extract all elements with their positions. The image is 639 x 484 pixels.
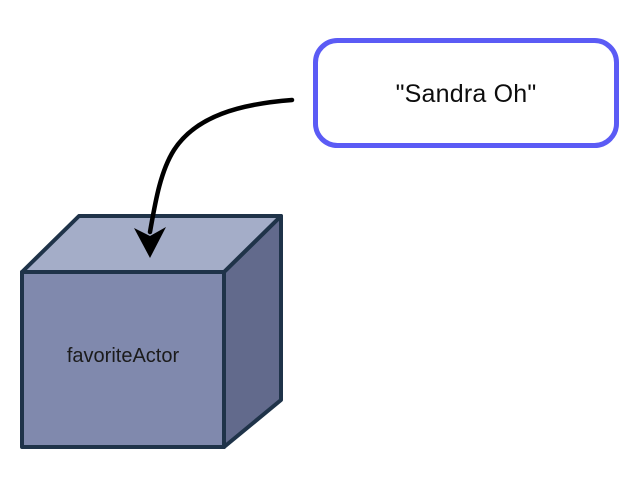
arrow-curve-path [150, 100, 292, 232]
value-box[interactable]: "Sandra Oh" [316, 41, 617, 146]
variable-name-label: favoriteActor [67, 345, 180, 367]
diagram-canvas: favoriteActor "Sandra Oh" [0, 0, 639, 484]
variable-assignment-diagram: favoriteActor "Sandra Oh" [0, 0, 639, 484]
value-box-text: "Sandra Oh" [396, 80, 537, 108]
